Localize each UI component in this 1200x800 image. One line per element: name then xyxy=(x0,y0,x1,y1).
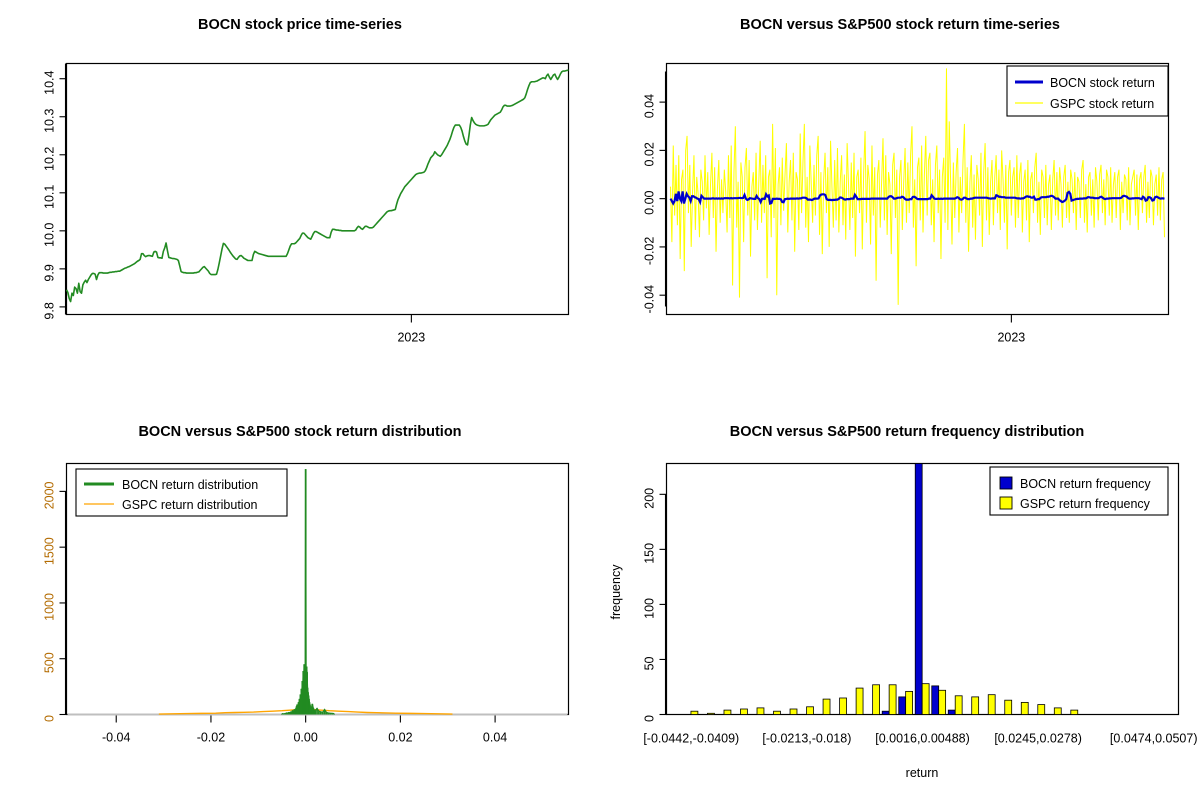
legend-label-frequency: BOCN return frequency xyxy=(1020,477,1151,491)
legend-swatch-square xyxy=(1000,497,1012,509)
y-tick-price: 9.8 xyxy=(43,302,57,319)
histogram-bar-gspc xyxy=(1054,708,1061,715)
y-tick-frequency: 50 xyxy=(643,656,657,670)
histogram-bar-gspc xyxy=(939,690,946,714)
distribution-legend[interactable]: BOCN return distributionGSPC return dist… xyxy=(76,469,287,516)
x-tick-distribution: 0.02 xyxy=(388,731,412,745)
legend-label-returns: GSPC stock return xyxy=(1050,97,1154,111)
x-tick-frequency: [-0.0213,-0.018) xyxy=(762,732,851,746)
y-tick-price: 10.0 xyxy=(43,223,57,247)
price-data-layer xyxy=(67,70,569,301)
histogram-bar-gspc xyxy=(906,691,913,714)
histogram-bar-gspc xyxy=(724,710,731,714)
y-tick-distribution: 0 xyxy=(43,715,57,722)
panel-title-distribution: BOCN versus S&P500 stock return distribu… xyxy=(138,424,461,440)
histogram-bar-bocn xyxy=(932,686,939,715)
x-tick-distribution: 0.00 xyxy=(293,731,317,745)
x-tick-returns: 2023 xyxy=(997,331,1025,345)
price-axes: 9.89.910.010.110.210.310.42023 xyxy=(43,64,426,345)
histogram-bar-gspc xyxy=(1005,700,1012,714)
axis-label-frequency-y: frequency xyxy=(609,564,623,620)
histogram-bar-gspc xyxy=(774,711,781,714)
y-tick-returns: 0.00 xyxy=(643,190,657,214)
histogram-bar-gspc xyxy=(856,688,863,714)
panel-title-price: BOCN stock price time-series xyxy=(198,17,402,33)
histogram-bar-gspc xyxy=(873,685,880,715)
y-tick-distribution: 1000 xyxy=(43,593,57,621)
panel-return-timeseries: BOCN versus S&P500 stock return time-ser… xyxy=(600,0,1200,400)
y-tick-frequency: 150 xyxy=(643,543,657,564)
y-tick-returns: 0.04 xyxy=(643,94,657,118)
x-tick-distribution: -0.04 xyxy=(102,731,131,745)
y-tick-returns: 0.02 xyxy=(643,142,657,166)
panel-title-returns: BOCN versus S&P500 stock return time-ser… xyxy=(740,17,1060,33)
x-tick-distribution: 0.04 xyxy=(483,731,507,745)
histogram-bar-gspc xyxy=(807,707,814,715)
y-tick-frequency: 0 xyxy=(643,715,657,722)
frequency-legend[interactable]: BOCN return frequencyGSPC return frequen… xyxy=(990,467,1168,515)
histogram-bar-gspc xyxy=(1071,710,1078,714)
histogram-bar-gspc xyxy=(972,697,979,715)
y-tick-frequency: 100 xyxy=(643,598,657,619)
histogram-bar-gspc xyxy=(1038,705,1045,715)
return-distribution-chart: BOCN versus S&P500 stock return distribu… xyxy=(0,400,600,800)
x-tick-frequency: [0.0016,0.00488) xyxy=(875,732,970,746)
histogram-bar-gspc xyxy=(922,684,929,715)
y-tick-distribution: 500 xyxy=(43,652,57,673)
axis-label-frequency-x: return xyxy=(906,766,939,780)
legend-label-frequency: GSPC return frequency xyxy=(1020,497,1151,511)
y-tick-returns: -0.02 xyxy=(643,237,657,266)
histogram-bar-bocn xyxy=(948,710,955,714)
histogram-bar-gspc xyxy=(988,695,995,715)
panel-return-frequency: BOCN versus S&P500 return frequency dist… xyxy=(600,400,1200,800)
x-tick-frequency: [0.0474,0.0507) xyxy=(1110,732,1198,746)
x-tick-frequency: [-0.0442,-0.0409) xyxy=(643,732,739,746)
return-frequency-chart: BOCN versus S&P500 return frequency dist… xyxy=(600,400,1200,800)
y-tick-distribution: 1500 xyxy=(43,537,57,565)
histogram-bar-bocn xyxy=(915,464,922,715)
distribution-curve-bocn xyxy=(282,469,334,714)
histogram-bar-bocn xyxy=(882,711,889,714)
histogram-bar-gspc xyxy=(757,708,764,715)
y-tick-price: 10.3 xyxy=(43,109,57,133)
y-tick-distribution: 2000 xyxy=(43,481,57,509)
distribution-axes: 0500100015002000-0.04-0.020.000.020.04 xyxy=(43,481,508,744)
panel-bocn-price: BOCN stock price time-series 9.89.910.01… xyxy=(0,0,600,400)
histogram-bar-gspc xyxy=(691,711,698,714)
return-timeseries-chart: BOCN versus S&P500 stock return time-ser… xyxy=(600,0,1200,400)
histogram-bar-gspc xyxy=(840,698,847,715)
y-tick-returns: -0.04 xyxy=(643,285,657,314)
x-tick-distribution: -0.02 xyxy=(197,731,226,745)
price-line-bocn xyxy=(67,70,569,301)
histogram-bar-gspc xyxy=(955,696,962,715)
plot-grid: BOCN stock price time-series 9.89.910.01… xyxy=(0,0,1200,800)
y-tick-frequency: 200 xyxy=(643,488,657,509)
legend-swatch-square xyxy=(1000,477,1012,489)
y-tick-price: 10.1 xyxy=(43,185,57,209)
histogram-bar-gspc xyxy=(1021,702,1028,714)
histogram-bar-gspc xyxy=(889,685,896,715)
y-tick-price: 9.9 xyxy=(43,264,57,281)
y-tick-price: 10.4 xyxy=(43,71,57,95)
x-tick-price: 2023 xyxy=(397,331,425,345)
histogram-bar-gspc xyxy=(740,709,747,715)
bocn-price-chart: BOCN stock price time-series 9.89.910.01… xyxy=(0,0,600,400)
returns-legend[interactable]: BOCN stock returnGSPC stock return xyxy=(1007,66,1168,116)
legend-label-distribution: GSPC return distribution xyxy=(122,498,258,512)
histogram-bar-gspc xyxy=(823,699,830,714)
y-tick-price: 10.2 xyxy=(43,147,57,171)
price-plot-frame xyxy=(67,64,569,315)
x-tick-frequency: [0.0245,0.0278) xyxy=(994,732,1082,746)
legend-label-distribution: BOCN return distribution xyxy=(122,478,258,492)
panel-title-frequency: BOCN versus S&P500 return frequency dist… xyxy=(730,424,1085,440)
histogram-bar-gspc xyxy=(707,713,714,714)
legend-label-returns: BOCN stock return xyxy=(1050,76,1155,90)
panel-return-distribution: BOCN versus S&P500 stock return distribu… xyxy=(0,400,600,800)
histogram-bar-gspc xyxy=(790,709,797,715)
histogram-bar-bocn xyxy=(899,697,906,715)
